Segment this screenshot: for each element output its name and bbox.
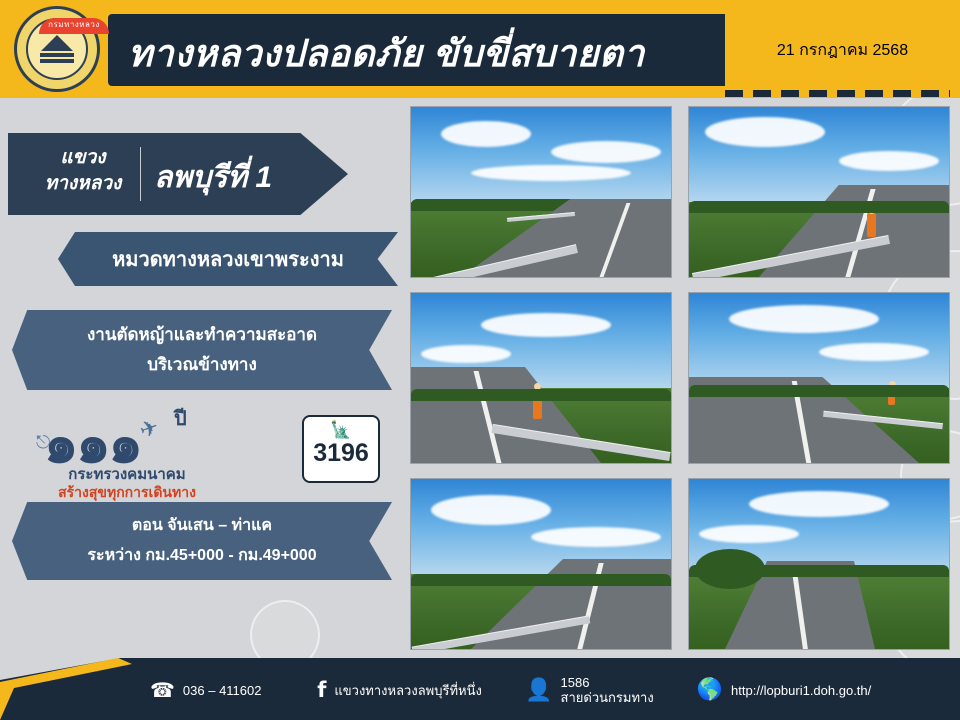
photo-5-cloud-b [531,527,661,547]
photo-6 [688,478,950,650]
work-banner: งานตัดหญ้าและทำความสะอาด บริเวณข้างทาง [12,310,392,390]
district-label-line2: ทางหลวง [45,173,122,194]
district-label: แขวง ทางหลวง [30,145,136,197]
photo-3-cloud-b [421,345,511,363]
photo-2-treeline [689,201,949,213]
route-line-2: ระหว่าง กม.45+000 - กม.49+000 [87,541,316,571]
photo-grid [410,106,950,651]
footer-contacts: ☎ 036 – 411602 f แขวงทางหลวงลพบุรีที่หนึ… [150,666,950,714]
seal-triangle-icon [41,35,73,51]
ministry-slogan: สร้างสุขทุกการเดินทาง [22,482,232,504]
ministry-logo: ⎋ ๑๑๑ ปี ✈ กระทรวงคมนาคม สร้างสุขทุกการเ… [22,400,232,510]
photo-4-cloud-b [819,343,929,361]
photo-4-cloud-a [729,305,879,333]
photo-3 [410,292,672,464]
footer-hotline-text: 1586 สายด่วนกรมทาง [561,675,654,705]
footer-hotline-number: 1586 [561,675,654,690]
work-line-1: งานตัดหญ้าและทำความสะอาด [87,320,317,350]
photo-5-treeline [411,574,671,586]
photo-2-cloud-a [705,117,825,147]
footer-website-text: http://lopburi1.doh.go.th/ [731,683,871,698]
photo-2 [688,106,950,278]
photo-1-cloud-b [551,141,661,163]
route-number: 3196 [313,439,369,467]
district-banner: แขวง ทางหลวง ลพบุรีที่ 1 [8,133,348,215]
photo-6-tree-cluster [695,549,765,589]
header-bar: ทางหลวงปลอดภัย ขับขี่สบายตา 21 กรกฎาคม 2… [0,0,960,98]
photo-5-cloud-a [431,495,551,525]
seal-bar-2 [40,59,74,63]
photo-1-cloud-a [441,121,531,147]
district-label-line1: แขวง [60,147,105,168]
garuda-icon: 🗽 [330,420,351,439]
header-date: 21 กรกฎาคม 2568 [777,38,908,63]
photo-3-treeline [411,389,671,401]
facebook-icon: f [317,678,326,702]
footer-hotline: 👤 1586 สายด่วนกรมทาง [525,675,697,705]
photo-6-cloud-a [749,491,889,517]
footer-facebook[interactable]: f แขวงทางหลวงลพบุรีที่หนึ่ง [317,678,525,702]
telephone-icon: ☎ [150,678,175,703]
district-name: ลพบุรีที่ 1 [154,154,272,201]
photo-2-worker [867,213,876,237]
section-banner: หมวดทางหลวงเขาพระงาม [58,232,398,286]
photo-6-cloud-b [699,525,799,543]
globe-icon: 🌎 [697,678,723,702]
footer-facebook-text: แขวงทางหลวงลพบุรีที่หนึ่ง [334,683,481,698]
work-line-2: บริเวณข้างทาง [147,350,257,380]
photo-3-cloud-a [481,313,611,337]
photo-1-cloud-c [471,165,631,181]
section-name: หมวดทางหลวงเขาพระงาม [112,243,344,275]
seal-ribbon: กรมทางหลวง [39,18,109,34]
hotline-operator-icon: 👤 [525,677,552,703]
footer-hotline-label: สายด่วนกรมทาง [561,690,654,705]
photo-4-treeline [689,385,949,397]
seal-bar-1 [40,53,74,57]
route-shield: 🗽 3196 [302,415,380,483]
doh-seal-icon: กรมทางหลวง [14,6,100,92]
ministry-year-suffix: ปี [174,402,187,434]
photo-5 [410,478,672,650]
route-banner: ตอน จันเสน – ท่าแค ระหว่าง กม.45+000 - ก… [12,502,392,580]
seal-ribbon-text: กรมทางหลวง [39,18,109,32]
header-dash-strip [725,90,950,97]
footer-phone-text: 036 – 411602 [183,683,262,698]
photo-1 [410,106,672,278]
poster-root: ทางหลวงปลอดภัย ขับขี่สบายตา 21 กรกฎาคม 2… [0,0,960,720]
district-divider [140,147,141,201]
route-line-1: ตอน จันเสน – ท่าแค [132,511,272,541]
photo-4 [688,292,950,464]
footer-phone: ☎ 036 – 411602 [150,678,317,703]
header-date-box: 21 กรกฎาคม 2568 [725,14,960,86]
page-title: ทางหลวงปลอดภัย ขับขี่สบายตา [128,24,645,83]
footer-website[interactable]: 🌎 http://lopburi1.doh.go.th/ [697,678,950,702]
photo-2-cloud-b [839,151,939,171]
